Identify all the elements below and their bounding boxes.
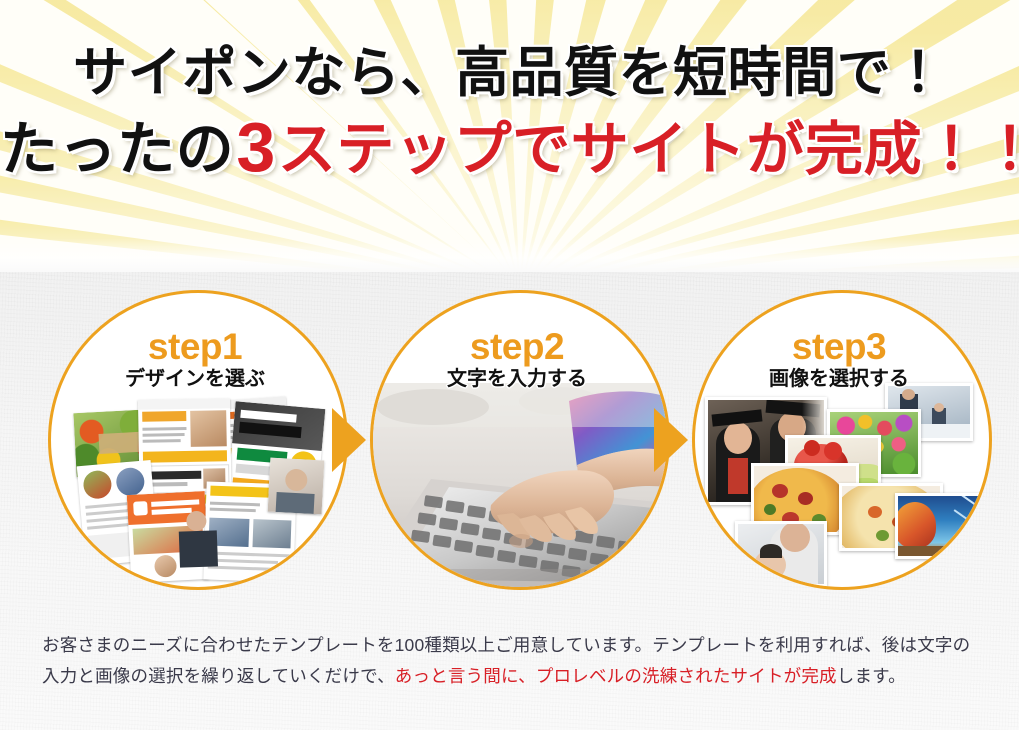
step-card-2[interactable]: step2 文字を入力する [370,290,670,590]
template-collage-image [73,397,323,582]
headline-line-1: サイポンなら、高品質を短時間で！ [0,46,1019,100]
right-arrow-icon-1 [332,408,366,472]
promo-banner-page: サイポンなら、高品質を短時間で！ たったの3ステップでサイトが完成！！ [0,0,1019,730]
headline-block: サイポンなら、高品質を短時間で！ たったの3ステップでサイトが完成！！ [0,46,1019,182]
step-circle-3-clip [695,293,989,587]
headline-line-2-red: ステップでサイトが完成！！ [278,117,1019,182]
laptop-illustration-icon [373,383,667,587]
hands-typing-laptop-photo [373,383,667,587]
right-arrow-icon-2 [654,408,688,472]
step-circle-1 [48,290,348,590]
steps-row: step1 デザインを選ぶ [0,290,1019,600]
headline-line-2: たったの3ステップでサイトが完成！！ [0,112,1019,182]
step-circle-1-clip [51,293,345,587]
description-highlight: あっと言う間に、プロレベルの洗練されたサイトが完成 [395,666,837,686]
step-card-3[interactable]: step3 画像を選択する [692,290,992,590]
description-paragraph: お客さまのニーズに合わせたテンプレートを100種類以上ご用意しています。テンプレ… [42,630,978,692]
headline-step-number: 3 [234,108,278,186]
step-circle-2 [370,290,670,590]
description-segment-3: します。 [837,666,906,686]
photo-pile-image [699,387,989,577]
step-card-1[interactable]: step1 デザインを選ぶ [48,290,348,590]
step-circle-3 [692,290,992,590]
headline-line-2-prefix: たったの [0,117,234,182]
step-circle-2-clip [373,293,667,587]
